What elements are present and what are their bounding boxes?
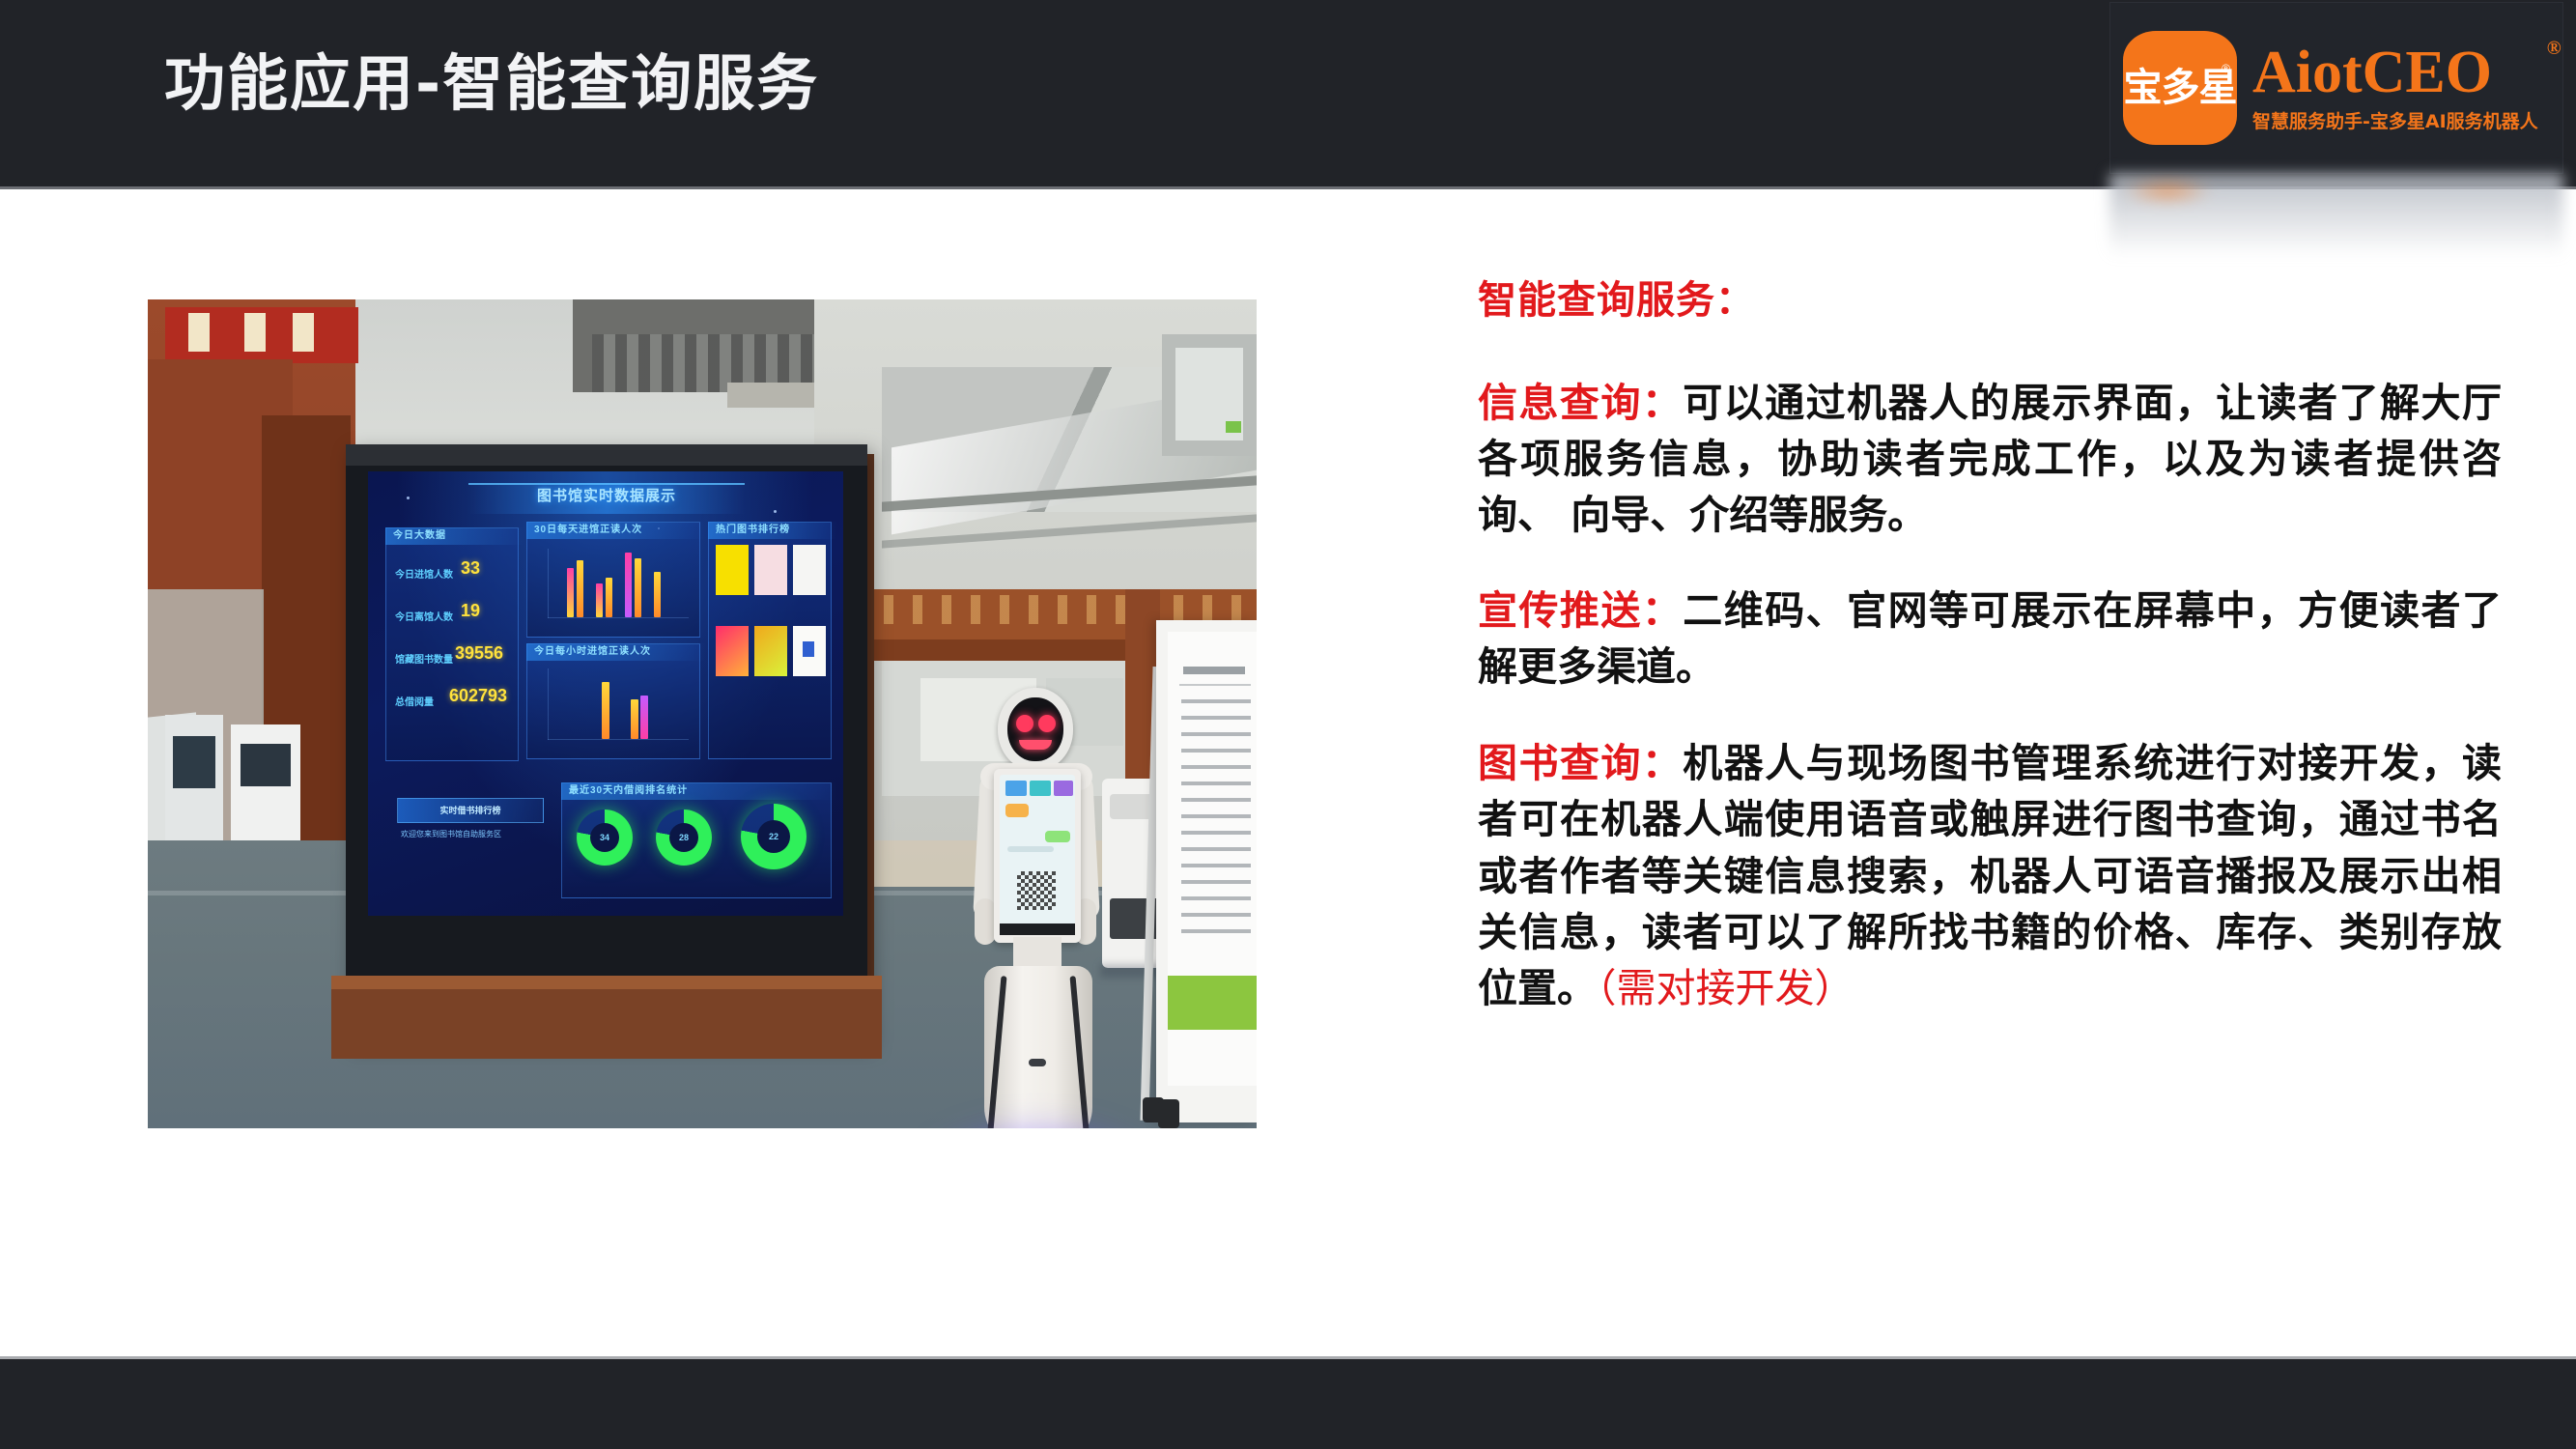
chart-bar [596, 583, 603, 617]
book-cover-accent [803, 641, 814, 657]
robot-screen-tile-consult [1054, 781, 1073, 796]
photo-green-accent [1226, 421, 1241, 433]
brand-name-text: AiotCEO [2252, 40, 2492, 105]
chart-x-axis [548, 617, 689, 618]
robot-screen-text-line [1007, 846, 1054, 852]
brand-tagline: 智慧服务助手-宝多星AI服务机器人 [2252, 107, 2538, 133]
chart-bar [577, 560, 583, 617]
robot-hand-left [975, 898, 996, 945]
stat-value: 602793 [449, 686, 507, 706]
chart-bar [606, 578, 612, 617]
dashboard-chart-top-title: 30日每天进馆正读人次 [526, 522, 706, 539]
stat-label: 今日离馆人数 [395, 609, 453, 623]
robot-eye-left-icon [1016, 715, 1033, 732]
stat-label: 今日进馆人数 [395, 566, 453, 581]
photo-sign-foot-right [1158, 1099, 1179, 1128]
donut-chart: 28 [656, 810, 712, 866]
robot-sensor [1029, 1059, 1046, 1066]
robot-face [1007, 697, 1063, 761]
robot-screen-qr-code-icon [1017, 871, 1056, 910]
book-cover [754, 545, 787, 595]
brand-registered-icon: ® [2547, 39, 2562, 58]
donut-chart: 22 [741, 804, 807, 869]
chart-bar [654, 572, 661, 617]
robot-screen-tile-navigate [1030, 781, 1051, 796]
header-divider [0, 186, 2576, 189]
dashboard-star [407, 497, 410, 499]
robot-screen-bubble-left [1005, 804, 1029, 817]
content-paragraph-book-query: 图书查询：机器人与现场图书管理系统进行对接开发，读 者可在机器人端使用语音或触屏… [1478, 735, 2502, 1016]
photo-sign-text-lines [1181, 699, 1251, 941]
book-cover [754, 626, 787, 676]
stat-value: 33 [461, 558, 480, 579]
library-data-dashboard: 图书馆实时数据展示 今日大数据 今日进馆人数 33 今日离馆人数 19 馆藏图书… [368, 471, 843, 916]
photo-sign-green-band [1168, 976, 1257, 1030]
robot-touch-screen [1000, 775, 1075, 935]
content-paragraph-promotion-push: 宣传推送：二维码、官网等可展示在屏幕中，方便读者了 解更多渠道。 [1478, 582, 2502, 695]
brand-name: AiotCEO® [2252, 43, 2538, 103]
slide-root: 功能应用-智能查询服务 宝多星 ® AiotCEO® 智慧服务助手-宝多星AI服… [0, 0, 2576, 1449]
chart-bar [567, 568, 574, 617]
dashboard-title: 图书馆实时数据展示 [468, 485, 745, 505]
book-cover [716, 626, 749, 676]
chart-bar [631, 699, 638, 739]
dashboard-chart-top-panel [526, 522, 700, 638]
paragraph-label: 信息查询： [1478, 380, 1683, 426]
logo-mark-text: 宝多星 [2124, 69, 2237, 107]
photo-video-wall-top-bezel [346, 444, 867, 466]
baoduoxing-logo-icon: 宝多星 ® [2123, 31, 2237, 145]
logo-mark-registered-icon: ® [2222, 62, 2230, 75]
page-title: 功能应用-智能查询服务 [164, 35, 819, 123]
robot-screen-tile-query [1005, 781, 1027, 796]
photo-red-banner-char-2 [244, 313, 266, 352]
stat-value: 19 [461, 601, 480, 621]
paragraph-label: 宣传推送： [1478, 587, 1683, 634]
dashboard-footer-ribbon: 实时借书排行榜 [397, 798, 544, 823]
photo-kiosk-2-screen [241, 744, 291, 786]
donut-chart: 34 [577, 810, 633, 866]
robot-screen-bottom-bezel [1000, 923, 1075, 935]
robot-screen-bubble-right [1045, 831, 1070, 842]
slide-footer [0, 1359, 2576, 1449]
dashboard-donut-title: 最近30天内借阅排名统计 [561, 782, 837, 800]
stat-value: 39556 [455, 643, 503, 664]
dashboard-chart-bottom-panel [526, 643, 700, 759]
chart-y-axis [548, 549, 549, 618]
book-cover [793, 545, 826, 595]
paragraph-label: 图书查询： [1478, 740, 1683, 786]
donut-value: 28 [669, 823, 698, 852]
donut-value: 34 [590, 823, 619, 852]
dashboard-ranking-title: 热门图书排行榜 [708, 522, 837, 539]
brand-logo: 宝多星 ® AiotCEO® 智慧服务助手-宝多星AI服务机器人 [2109, 2, 2563, 174]
photo-kiosk-1-screen [173, 736, 215, 788]
chart-x-axis [548, 739, 689, 740]
robot-eye-right-icon [1038, 715, 1056, 732]
book-cover [716, 545, 749, 595]
photo-video-wall-base-top [331, 976, 882, 989]
dashboard-chart-bottom-title: 今日每小时进馆正读人次 [526, 643, 706, 661]
content-heading: 智能查询服务： [1478, 276, 2502, 325]
chart-y-axis [548, 668, 549, 740]
chart-bar [635, 558, 641, 617]
brand-wordmark: AiotCEO® 智慧服务助手-宝多星AI服务机器人 [2252, 43, 2538, 133]
paragraph-note: （需对接开发） [1597, 965, 1854, 1011]
library-robot-photo: 图书馆实时数据展示 今日大数据 今日进馆人数 33 今日离馆人数 19 馆藏图书… [148, 299, 1257, 1128]
dashboard-footer-note: 欢迎您来到图书馆自助服务区 [401, 829, 548, 839]
chart-bar [625, 553, 632, 617]
donut-value: 22 [757, 820, 790, 853]
content-column: 智能查询服务： 信息查询：可以通过机器人的展示界面，让读者了解大厅 各项服务信息… [1478, 276, 2502, 1016]
dashboard-star [774, 510, 777, 513]
photo-sign-heading [1183, 667, 1245, 674]
stat-label: 总借阅量 [395, 694, 434, 708]
robot-mouth-icon [1019, 740, 1052, 750]
content-paragraph-info-query: 信息查询：可以通过机器人的展示界面，让读者了解大厅 各项服务信息，协助读者完成工… [1478, 375, 2502, 544]
photo-red-banner-char-1 [188, 313, 210, 352]
dashboard-stats-panel-title: 今日大数据 [385, 527, 524, 545]
photo-red-banner-char-3 [293, 313, 314, 352]
chart-bar [602, 682, 609, 739]
stat-label: 馆藏图书数量 [395, 651, 453, 666]
chart-bar [640, 696, 648, 739]
photo-sign-rule [1179, 684, 1251, 686]
